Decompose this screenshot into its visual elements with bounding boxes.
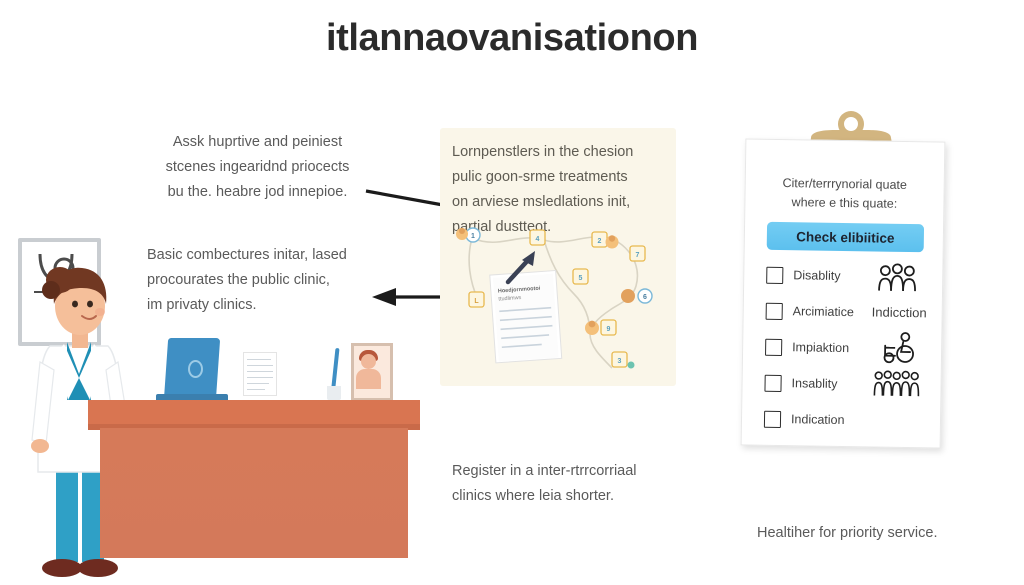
checkbox-impiaktion[interactable] bbox=[765, 338, 782, 355]
connector-text-to-card bbox=[366, 191, 443, 205]
center-card: Lornpenstlers in the chesion pulic goon-… bbox=[440, 128, 676, 386]
checklist-row-5[interactable]: Indication bbox=[764, 408, 939, 433]
people-group-icon bbox=[876, 262, 918, 293]
wheelchair-icon bbox=[879, 332, 917, 365]
checkbox-insablity[interactable] bbox=[764, 374, 781, 391]
svg-text:7: 7 bbox=[636, 252, 640, 259]
svg-text:L: L bbox=[474, 298, 479, 305]
pen-holder bbox=[327, 386, 341, 400]
checklist-label-2: Arcimiatice bbox=[793, 304, 854, 319]
svg-text:4: 4 bbox=[536, 236, 540, 243]
crowd-icon bbox=[872, 368, 924, 397]
checklist-extra-indicction: Indicction bbox=[872, 304, 927, 320]
checkbox-indication[interactable] bbox=[764, 410, 781, 427]
clipboard-heading: Citer/terrrynorial quate where e this qu… bbox=[759, 174, 930, 214]
desk-counter-front bbox=[100, 428, 408, 558]
checkbox-disablity[interactable] bbox=[766, 266, 783, 283]
svg-text:3: 3 bbox=[618, 358, 622, 365]
document-flow-diagram-icon: Hoedjornmootoi ttudlimws 1 4 bbox=[440, 220, 676, 386]
check-eligibility-button[interactable]: Check elibiitice bbox=[767, 222, 924, 252]
paper-sheet bbox=[244, 353, 276, 395]
bottom-center-paragraph: Register in a inter-rtrrcorriaal clinics… bbox=[452, 459, 682, 509]
desk-photo-frame bbox=[351, 343, 393, 401]
svg-text:6: 6 bbox=[643, 294, 647, 301]
checklist-label-1: Disablity bbox=[793, 268, 840, 283]
bottom-right-paragraph: Healtiher for priority service. bbox=[757, 521, 972, 546]
desk-counter-top bbox=[88, 400, 420, 427]
svg-text:5: 5 bbox=[579, 275, 583, 282]
svg-text:2: 2 bbox=[598, 238, 602, 245]
checklist-label-5: Indication bbox=[791, 412, 845, 427]
checkbox-arcimiatice[interactable] bbox=[766, 302, 783, 319]
eligibility-clipboard: Citer/terrrynorial quate where e this qu… bbox=[735, 108, 965, 448]
svg-text:1: 1 bbox=[471, 233, 475, 240]
clipboard-sheet: Citer/terrrynorial quate where e this qu… bbox=[741, 138, 946, 448]
laptop-logo-icon bbox=[188, 360, 203, 378]
checklist-label-3: Impiaktion bbox=[792, 340, 849, 355]
left-paragraph-1: Assk huprtive and peiniest stcenes ingea… bbox=[145, 130, 370, 205]
doctor-reception-scene bbox=[0, 228, 420, 585]
infographic-canvas: itlannaovanisationon Assk huprtive and p… bbox=[0, 0, 1024, 585]
checklist-label-4: Insablity bbox=[791, 376, 837, 391]
page-title: itlannaovanisationon bbox=[0, 16, 1024, 62]
svg-text:9: 9 bbox=[607, 326, 611, 333]
